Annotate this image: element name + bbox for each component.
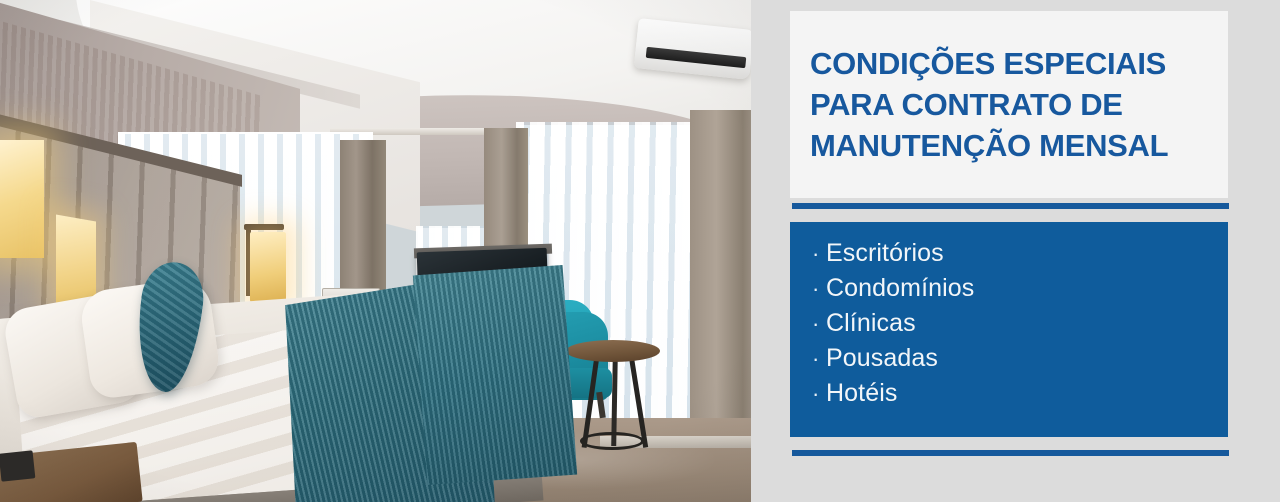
hotel-room-photo <box>0 0 751 502</box>
bullet-icon: · <box>812 306 826 341</box>
list-item-label: Escritórios <box>826 236 944 271</box>
title-line-1: CONDIÇÕES ESPECIAIS <box>810 43 1210 84</box>
list-item: · Hotéis <box>812 376 1208 411</box>
list-item: · Clínicas <box>812 306 1208 341</box>
title-line-3: MANUTENÇÃO MENSAL <box>810 125 1210 166</box>
promotional-banner: CONDIÇÕES ESPECIAIS PARA CONTRATO DE MAN… <box>0 0 1280 502</box>
divider-bottom <box>792 450 1229 456</box>
photo-vignette <box>0 0 751 502</box>
content-panel: CONDIÇÕES ESPECIAIS PARA CONTRATO DE MAN… <box>751 0 1280 502</box>
services-list-card: · Escritórios · Condomínios · Clínicas ·… <box>790 222 1228 437</box>
divider-top <box>792 203 1229 209</box>
list-item: · Pousadas <box>812 341 1208 376</box>
title-card: CONDIÇÕES ESPECIAIS PARA CONTRATO DE MAN… <box>790 11 1228 198</box>
list-item-label: Clínicas <box>826 306 916 341</box>
bullet-icon: · <box>812 271 826 306</box>
list-item-label: Pousadas <box>826 341 938 376</box>
bullet-icon: · <box>812 236 826 271</box>
bullet-icon: · <box>812 341 826 376</box>
list-item-label: Condomínios <box>826 271 974 306</box>
list-item: · Condomínios <box>812 271 1208 306</box>
bullet-icon: · <box>812 376 826 411</box>
list-item-label: Hotéis <box>826 376 897 411</box>
title-line-2: PARA CONTRATO DE <box>810 84 1210 125</box>
list-item: · Escritórios <box>812 236 1208 271</box>
